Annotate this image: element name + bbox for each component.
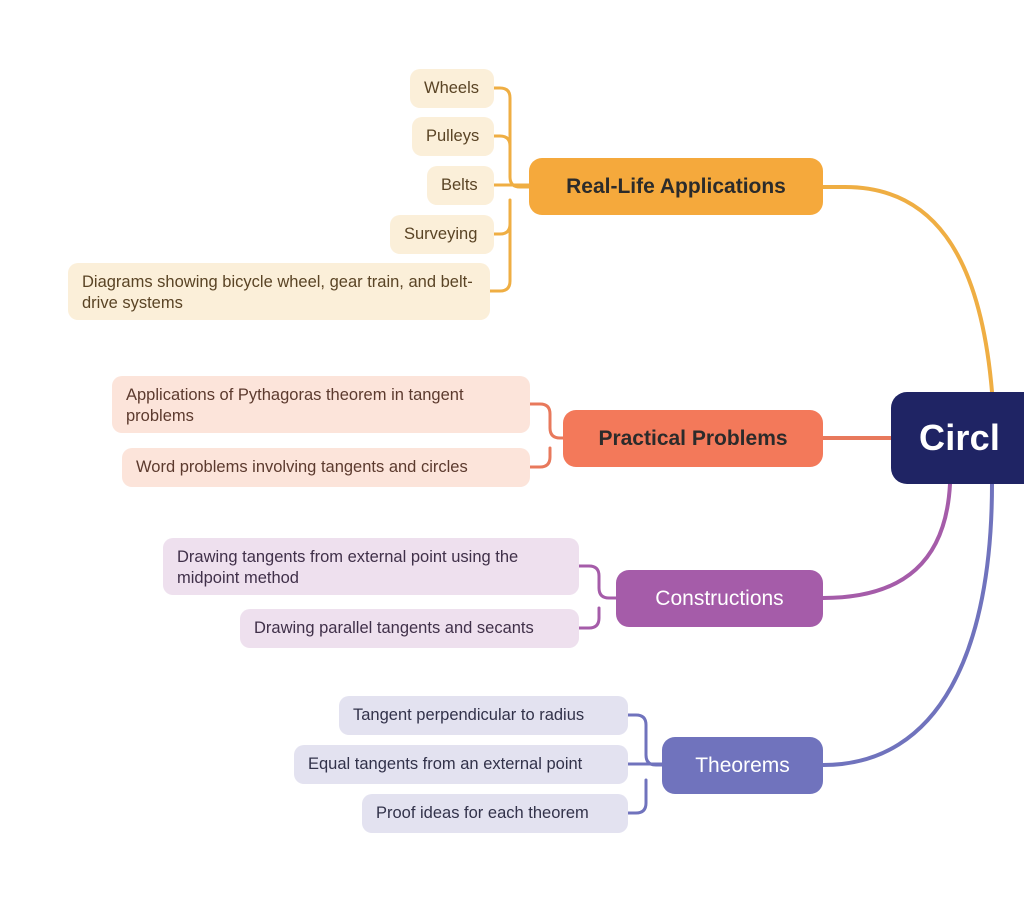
leaf-label-parallel-tangents-secants: Drawing parallel tangents and secants (254, 618, 565, 639)
mindmap-canvas: Circl Real-Life Applications Wheels Pull… (0, 0, 1024, 903)
branch-node-theorems[interactable]: Theorems (662, 737, 823, 794)
link-root-to-theorems (823, 484, 992, 765)
leaf-label-belts: Belts (441, 175, 480, 196)
leaf-label-word-problems-tangents-circles: Word problems involving tangents and cir… (136, 457, 516, 478)
link-cons-bracket (579, 566, 619, 598)
leaf-label-pythagoras-tangent-problems: Applications of Pythagoras theorem in ta… (126, 385, 516, 427)
link-cons-leaf-parallel (579, 608, 599, 628)
branch-node-constructions[interactable]: Constructions (616, 570, 823, 627)
leaf-node-word-problems-tangents-circles[interactable]: Word problems involving tangents and cir… (122, 448, 530, 487)
leaf-node-pythagoras-tangent-problems[interactable]: Applications of Pythagoras theorem in ta… (112, 376, 530, 433)
link-theo-bracket-top (628, 715, 664, 765)
leaf-label-diagrams-bicycle-gear-belt: Diagrams showing bicycle wheel, gear tra… (82, 272, 476, 314)
branch-label-theorems: Theorems (695, 754, 790, 778)
leaf-node-parallel-tangents-secants[interactable]: Drawing parallel tangents and secants (240, 609, 579, 648)
branch-label-real-life-applications: Real-Life Applications (566, 175, 786, 199)
link-apps-leaf-pulleys (494, 136, 510, 146)
link-root-to-real-life-applications (823, 187, 992, 392)
leaf-node-tangent-perpendicular-radius[interactable]: Tangent perpendicular to radius (339, 696, 628, 735)
leaf-node-equal-tangents-external-point[interactable]: Equal tangents from an external point (294, 745, 628, 784)
leaf-node-wheels[interactable]: Wheels (410, 69, 494, 108)
leaf-node-pulleys[interactable]: Pulleys (412, 117, 494, 156)
root-node-label: Circl (919, 417, 1000, 459)
link-prac-leaf-word (530, 448, 550, 467)
leaf-node-surveying[interactable]: Surveying (390, 215, 494, 254)
leaf-label-wheels: Wheels (424, 78, 480, 99)
leaf-node-proof-ideas-each-theorem[interactable]: Proof ideas for each theorem (362, 794, 628, 833)
leaf-label-proof-ideas-each-theorem: Proof ideas for each theorem (376, 803, 614, 824)
leaf-label-equal-tangents-external-point: Equal tangents from an external point (308, 754, 614, 775)
leaf-label-tangents-external-point-midpoint: Drawing tangents from external point usi… (177, 547, 565, 589)
branch-node-real-life-applications[interactable]: Real-Life Applications (529, 158, 823, 215)
link-theo-leaf-proof (628, 780, 646, 813)
leaf-node-belts[interactable]: Belts (427, 166, 494, 205)
branch-label-constructions: Constructions (655, 587, 783, 611)
link-apps-leaf-surveying (494, 224, 510, 234)
link-root-to-constructions (823, 484, 950, 598)
leaf-node-diagrams-bicycle-gear-belt[interactable]: Diagrams showing bicycle wheel, gear tra… (68, 263, 490, 320)
leaf-label-pulleys: Pulleys (426, 126, 480, 147)
branch-label-practical-problems: Practical Problems (598, 427, 787, 451)
link-apps-bracket (494, 88, 530, 187)
leaf-label-surveying: Surveying (404, 224, 480, 245)
branch-node-practical-problems[interactable]: Practical Problems (563, 410, 823, 467)
leaf-label-tangent-perpendicular-radius: Tangent perpendicular to radius (353, 705, 614, 726)
root-node-circles[interactable]: Circl (891, 392, 1024, 484)
leaf-node-tangents-external-point-midpoint[interactable]: Drawing tangents from external point usi… (163, 538, 579, 595)
